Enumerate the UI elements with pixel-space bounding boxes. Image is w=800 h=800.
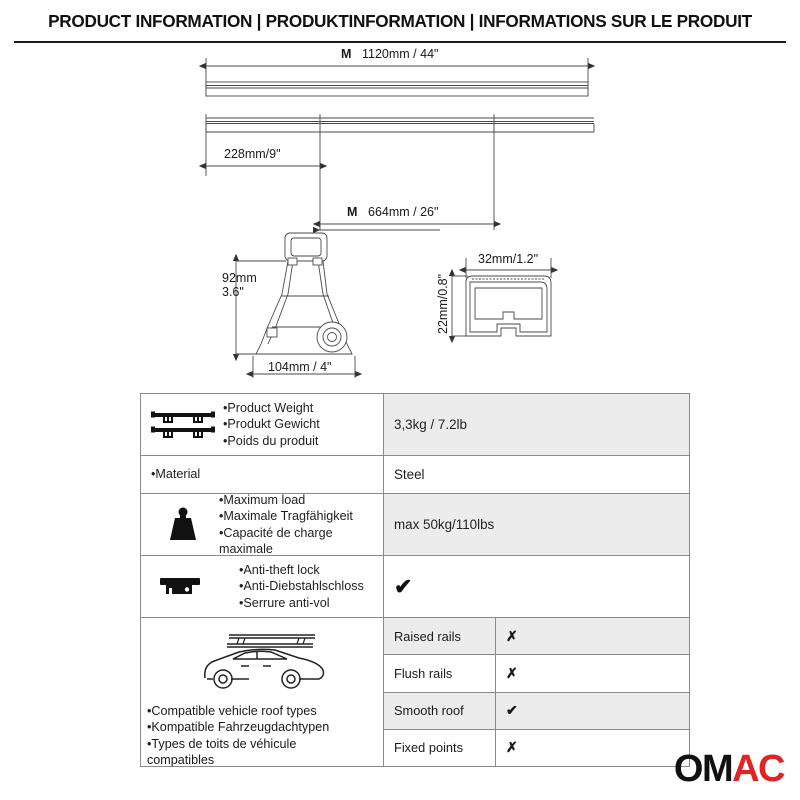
- roof-type-mark: ✗: [496, 655, 689, 691]
- roof-type-name: Raised rails: [384, 618, 496, 654]
- checkmark-icon: ✔: [394, 576, 412, 598]
- spec-labels-product-weight: •Product Weight •Produkt Gewicht •Poids …: [219, 400, 320, 448]
- roof-type-row-flush-rails: Flush rails ✗: [384, 655, 689, 692]
- dim-marker-bar-length: M: [341, 47, 351, 61]
- label-line: •Maximum load: [219, 492, 379, 508]
- spec-label-cell-anti-theft-lock: •Anti-theft lock •Anti-Diebstahlschloss …: [141, 556, 384, 617]
- header-divider: [14, 41, 786, 43]
- label-line: •Produkt Gewicht: [223, 416, 320, 432]
- label-line: •Maximale Tragfähigkeit: [219, 508, 379, 524]
- label-line: •Types de toits de véhicule: [147, 736, 329, 752]
- label-line: •Product Weight: [223, 400, 320, 416]
- spec-value-maximum-load: max 50kg/110lbs: [384, 494, 689, 555]
- label-line: compatibles: [147, 752, 329, 768]
- dim-text-foot-height-in: 3.6": [222, 285, 244, 299]
- spec-value-anti-theft-lock: ✔: [384, 556, 689, 617]
- label-line: •Serrure anti-vol: [239, 595, 364, 611]
- specification-table: •Product Weight •Produkt Gewicht •Poids …: [140, 393, 690, 767]
- label-line: •Compatible vehicle roof types: [147, 703, 329, 719]
- spec-labels-anti-theft-lock: •Anti-theft lock •Anti-Diebstahlschloss …: [219, 562, 364, 610]
- label-line: •Kompatible Fahrzeugdachtypen: [147, 719, 329, 735]
- table-row: •Compatible vehicle roof types •Kompatib…: [141, 618, 689, 766]
- omac-logo: OMAC: [674, 750, 784, 788]
- crossbars-icon: [147, 406, 219, 444]
- dim-text-profile-width: 32mm/1.2": [478, 252, 538, 266]
- roof-type-name: Flush rails: [384, 655, 496, 691]
- label-line: •Anti-Diebstahlschloss: [239, 578, 364, 594]
- lock-icon: [147, 572, 219, 602]
- dim-text-bar-length: 1120mm / 44": [362, 47, 438, 61]
- spec-labels-maximum-load: •Maximum load •Maximale Tragfähigkeit •C…: [219, 492, 379, 556]
- label-line: •Capacité de charge maximale: [219, 525, 379, 557]
- label-line: •Material: [151, 466, 200, 482]
- roof-type-matrix: Raised rails ✗ Flush rails ✗ Smooth roof…: [384, 618, 689, 766]
- dim-text-foot-spacing: 664mm / 26": [368, 205, 438, 219]
- roof-type-name: Smooth roof: [384, 693, 496, 729]
- logo-part-red: AC: [732, 748, 784, 790]
- logo-part-dark: OM: [674, 748, 732, 790]
- page-title: PRODUCT INFORMATION | PRODUKTINFORMATION…: [48, 11, 752, 32]
- roof-type-mark: ✔: [496, 693, 689, 729]
- roof-type-mark: ✗: [496, 730, 689, 766]
- dim-text-end-offset: 228mm/9": [224, 147, 281, 161]
- dim-text-profile-height: 22mm/0.8": [436, 274, 450, 334]
- table-row: •Anti-theft lock •Anti-Diebstahlschloss …: [141, 556, 689, 618]
- roof-type-mark: ✗: [496, 618, 689, 654]
- technical-drawing: M 1120mm / 44" 228mm/9" M 664mm / 26": [0, 44, 800, 384]
- page-header: PRODUCT INFORMATION | PRODUKTINFORMATION…: [0, 0, 800, 42]
- car-with-rack-icon: [187, 626, 337, 697]
- roof-type-row-fixed-points: Fixed points ✗: [384, 730, 689, 766]
- weight-icon: [147, 506, 219, 544]
- dim-marker-foot-spacing: M: [347, 205, 357, 219]
- table-row: •Product Weight •Produkt Gewicht •Poids …: [141, 394, 689, 456]
- dim-text-foot-height-mm: 92mm: [222, 271, 257, 285]
- spec-value-material: Steel: [384, 456, 689, 493]
- spec-label-cell-roof-types: •Compatible vehicle roof types •Kompatib…: [141, 618, 384, 766]
- spec-label-cell-material: •Material: [141, 456, 384, 493]
- spec-label-cell-maximum-load: •Maximum load •Maximale Tragfähigkeit •C…: [141, 494, 384, 555]
- roof-type-name: Fixed points: [384, 730, 496, 766]
- spec-labels-material: •Material: [147, 466, 200, 482]
- spec-label-cell-product-weight: •Product Weight •Produkt Gewicht •Poids …: [141, 394, 384, 455]
- roof-type-row-smooth-roof: Smooth roof ✔: [384, 693, 689, 730]
- label-line: •Poids du produit: [223, 433, 320, 449]
- spec-value-product-weight: 3,3kg / 7.2lb: [384, 394, 689, 455]
- label-line: •Anti-theft lock: [239, 562, 364, 578]
- roof-type-row-raised-rails: Raised rails ✗: [384, 618, 689, 655]
- table-row: •Material Steel: [141, 456, 689, 494]
- dim-text-foot-width: 104mm / 4": [268, 360, 332, 374]
- table-row: •Maximum load •Maximale Tragfähigkeit •C…: [141, 494, 689, 556]
- spec-labels-roof-types: •Compatible vehicle roof types •Kompatib…: [141, 697, 329, 768]
